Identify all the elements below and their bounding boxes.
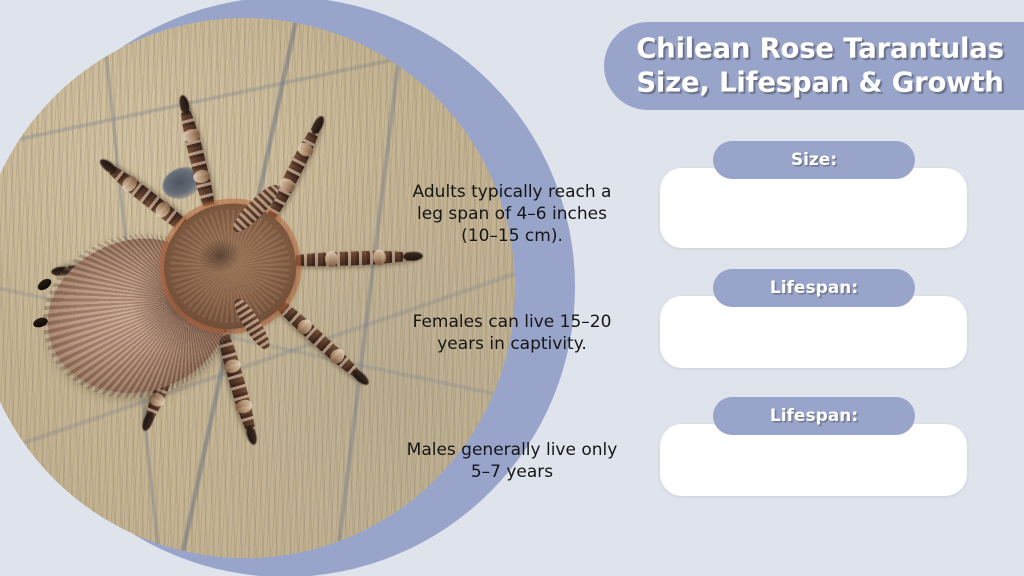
fact-card-heading-pill: Lifespan:: [713, 397, 915, 435]
fact-card-heading-pill: Size:: [713, 141, 915, 179]
tarantula-leg: [279, 249, 419, 268]
fact-card-heading: Lifespan:: [770, 406, 858, 426]
fact-card-heading: Size:: [791, 150, 837, 170]
fact-card-heading: Lifespan:: [770, 278, 858, 298]
fact-card-body: Adults typically reach a leg span of 4–6…: [0, 182, 1024, 247]
infographic-canvas: Chilean Rose Tarantulas Size, Lifespan &…: [0, 0, 1024, 576]
fact-card-body: Females can live 15–20 years in captivit…: [0, 312, 1024, 356]
fact-card-body: Males generally live only 5–7 years: [0, 440, 1024, 484]
fact-card-heading-pill: Lifespan:: [713, 269, 915, 307]
title-banner: Chilean Rose Tarantulas Size, Lifespan &…: [604, 22, 1024, 110]
page-title: Chilean Rose Tarantulas Size, Lifespan &…: [622, 32, 1018, 99]
